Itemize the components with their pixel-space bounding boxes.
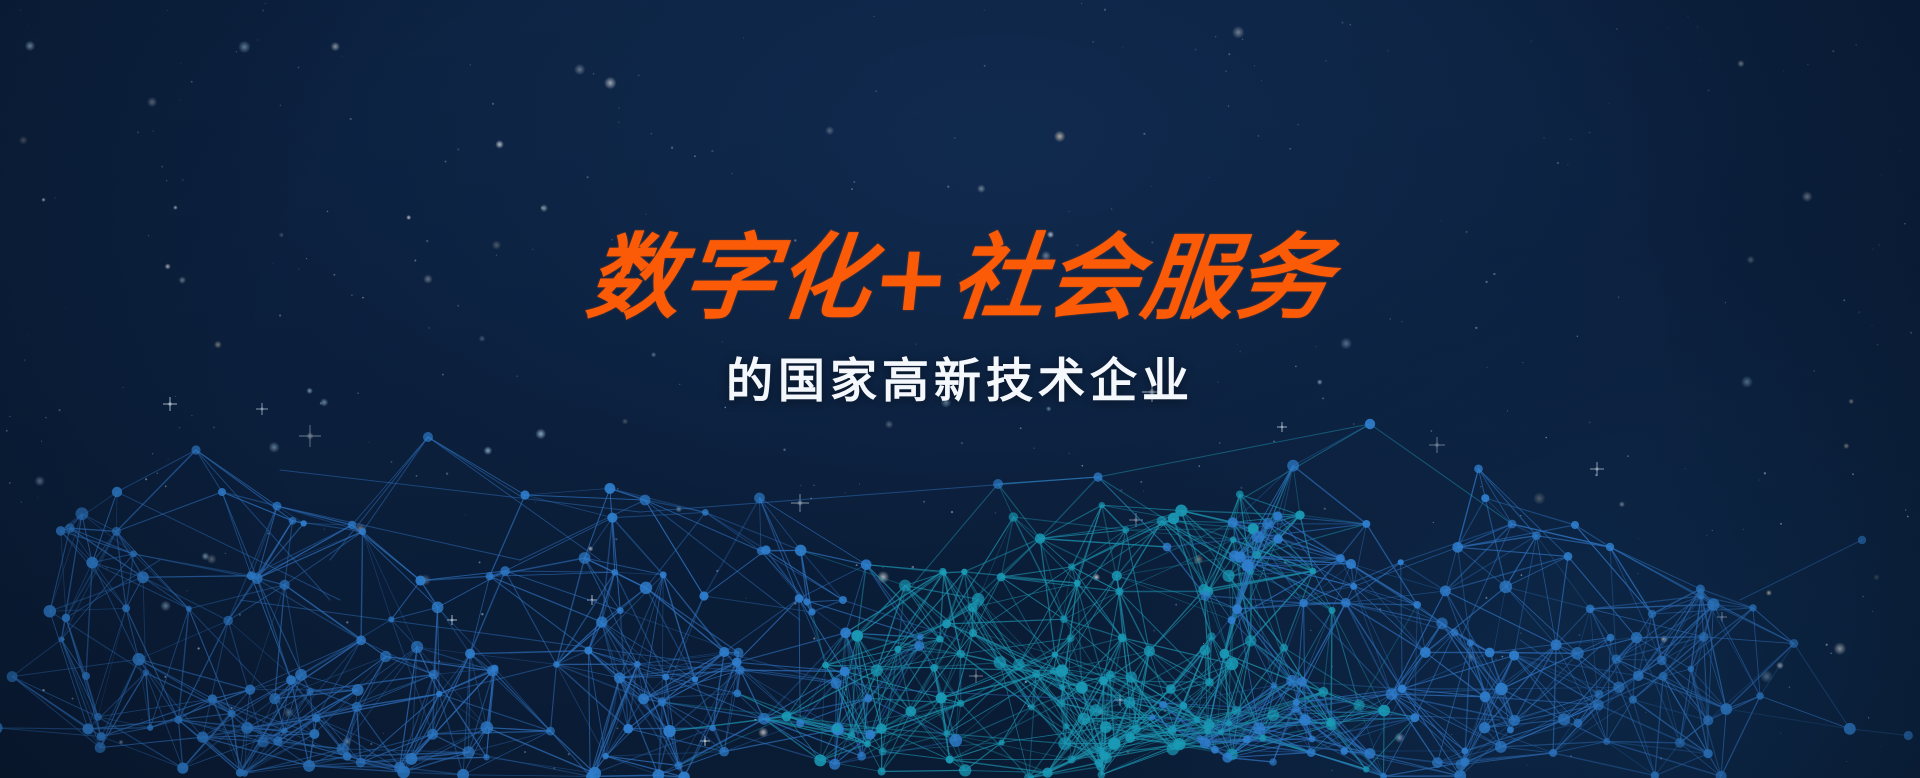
page-subtitle: 的国家高新技术企业 [0, 342, 1920, 411]
hero-banner: 数字化+社会服务 的国家高新技术企业 [0, 0, 1920, 778]
hero-copy: 数字化+社会服务 的国家高新技术企业 [0, 228, 1920, 411]
page-title: 数字化+社会服务 [0, 228, 1920, 328]
